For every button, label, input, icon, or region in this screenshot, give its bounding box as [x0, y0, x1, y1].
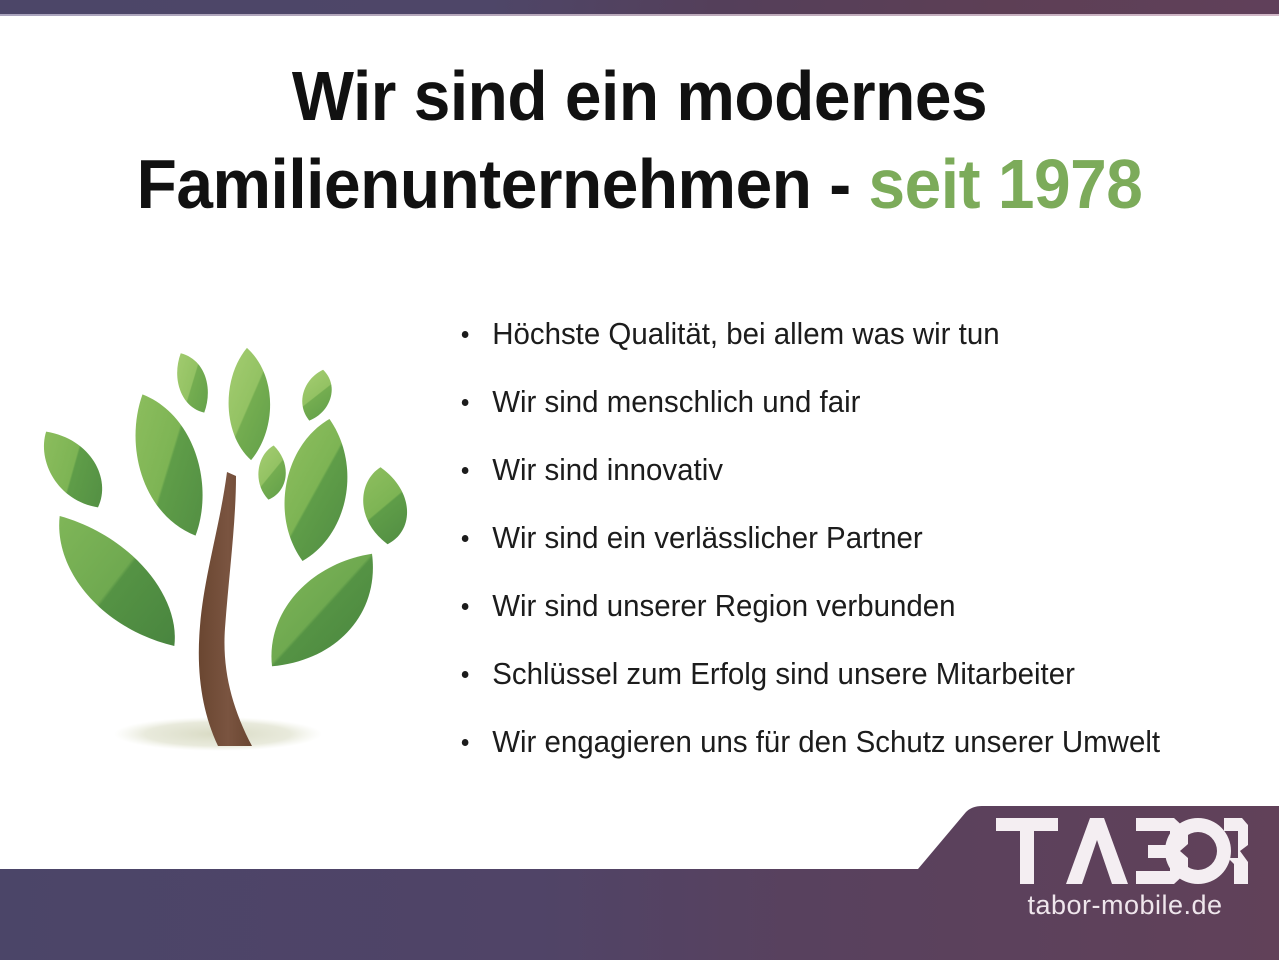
bullet-dot-icon [462, 467, 469, 474]
tree-leaf [39, 421, 108, 516]
bottom-band-shape [0, 806, 1279, 960]
slide-canvas: Wir sind ein modernes Familienunternehme… [0, 0, 1279, 960]
list-item-label: Höchste Qualität, bei allem was wir tun [492, 316, 999, 351]
list-item: Wir sind ein verlässlicher Partner [458, 504, 1228, 572]
list-item: Wir sind menschlich und fair [458, 368, 1228, 436]
bullet-dot-icon [462, 535, 469, 542]
bullet-dot-icon [462, 671, 469, 678]
bullet-dot-icon [462, 331, 469, 338]
value-bullet-list: Höchste Qualität, bei allem was wir tun … [458, 300, 1268, 776]
bullet-dot-icon [462, 739, 469, 746]
bottom-brand-band [0, 806, 1279, 960]
tree-leaf [174, 350, 211, 415]
headline-line-2: Familienunternehmen - seit 1978 [38, 140, 1240, 228]
list-item: Wir sind innovativ [458, 436, 1228, 504]
bullet-dot-icon [462, 399, 469, 406]
tree-leaf [294, 366, 340, 425]
bullet-dot-icon [462, 603, 469, 610]
list-item-label: Wir sind menschlich und fair [492, 384, 860, 419]
list-item: Wir engagieren uns für den Schutz unsere… [458, 708, 1228, 776]
tree-svg [22, 330, 442, 760]
list-item: Wir sind unserer Region verbunden [458, 572, 1228, 640]
list-item-label: Wir sind ein verlässlicher Partner [492, 520, 922, 555]
list-item-label: Schlüssel zum Erfolg sind unsere Mitarbe… [492, 656, 1075, 691]
headline-line-2-prefix: Familienunternehmen - [137, 145, 869, 223]
tree-leaf [352, 465, 419, 548]
tree-leaf [271, 550, 373, 669]
tree-leaf [226, 347, 274, 461]
list-item-label: Wir sind unserer Region verbunden [492, 588, 955, 623]
list-item: Höchste Qualität, bei allem was wir tun [458, 300, 1228, 368]
top-accent-hairline [0, 14, 1279, 16]
tree-trunk [199, 472, 252, 746]
headline-accent-year: seit 1978 [869, 145, 1143, 223]
top-accent-bar [0, 0, 1279, 14]
headline-line-1: Wir sind ein modernes [38, 52, 1240, 140]
list-item: Schlüssel zum Erfolg sind unsere Mitarbe… [458, 640, 1228, 708]
tree-leaf [131, 389, 208, 541]
list-item-label: Wir sind innovativ [492, 452, 723, 487]
tree-leaf [278, 415, 354, 565]
tree-leaf [59, 512, 175, 650]
tree-illustration [22, 330, 442, 760]
page-title: Wir sind ein modernes Familienunternehme… [38, 52, 1240, 228]
list-item-label: Wir engagieren uns für den Schutz unsere… [492, 724, 1160, 759]
